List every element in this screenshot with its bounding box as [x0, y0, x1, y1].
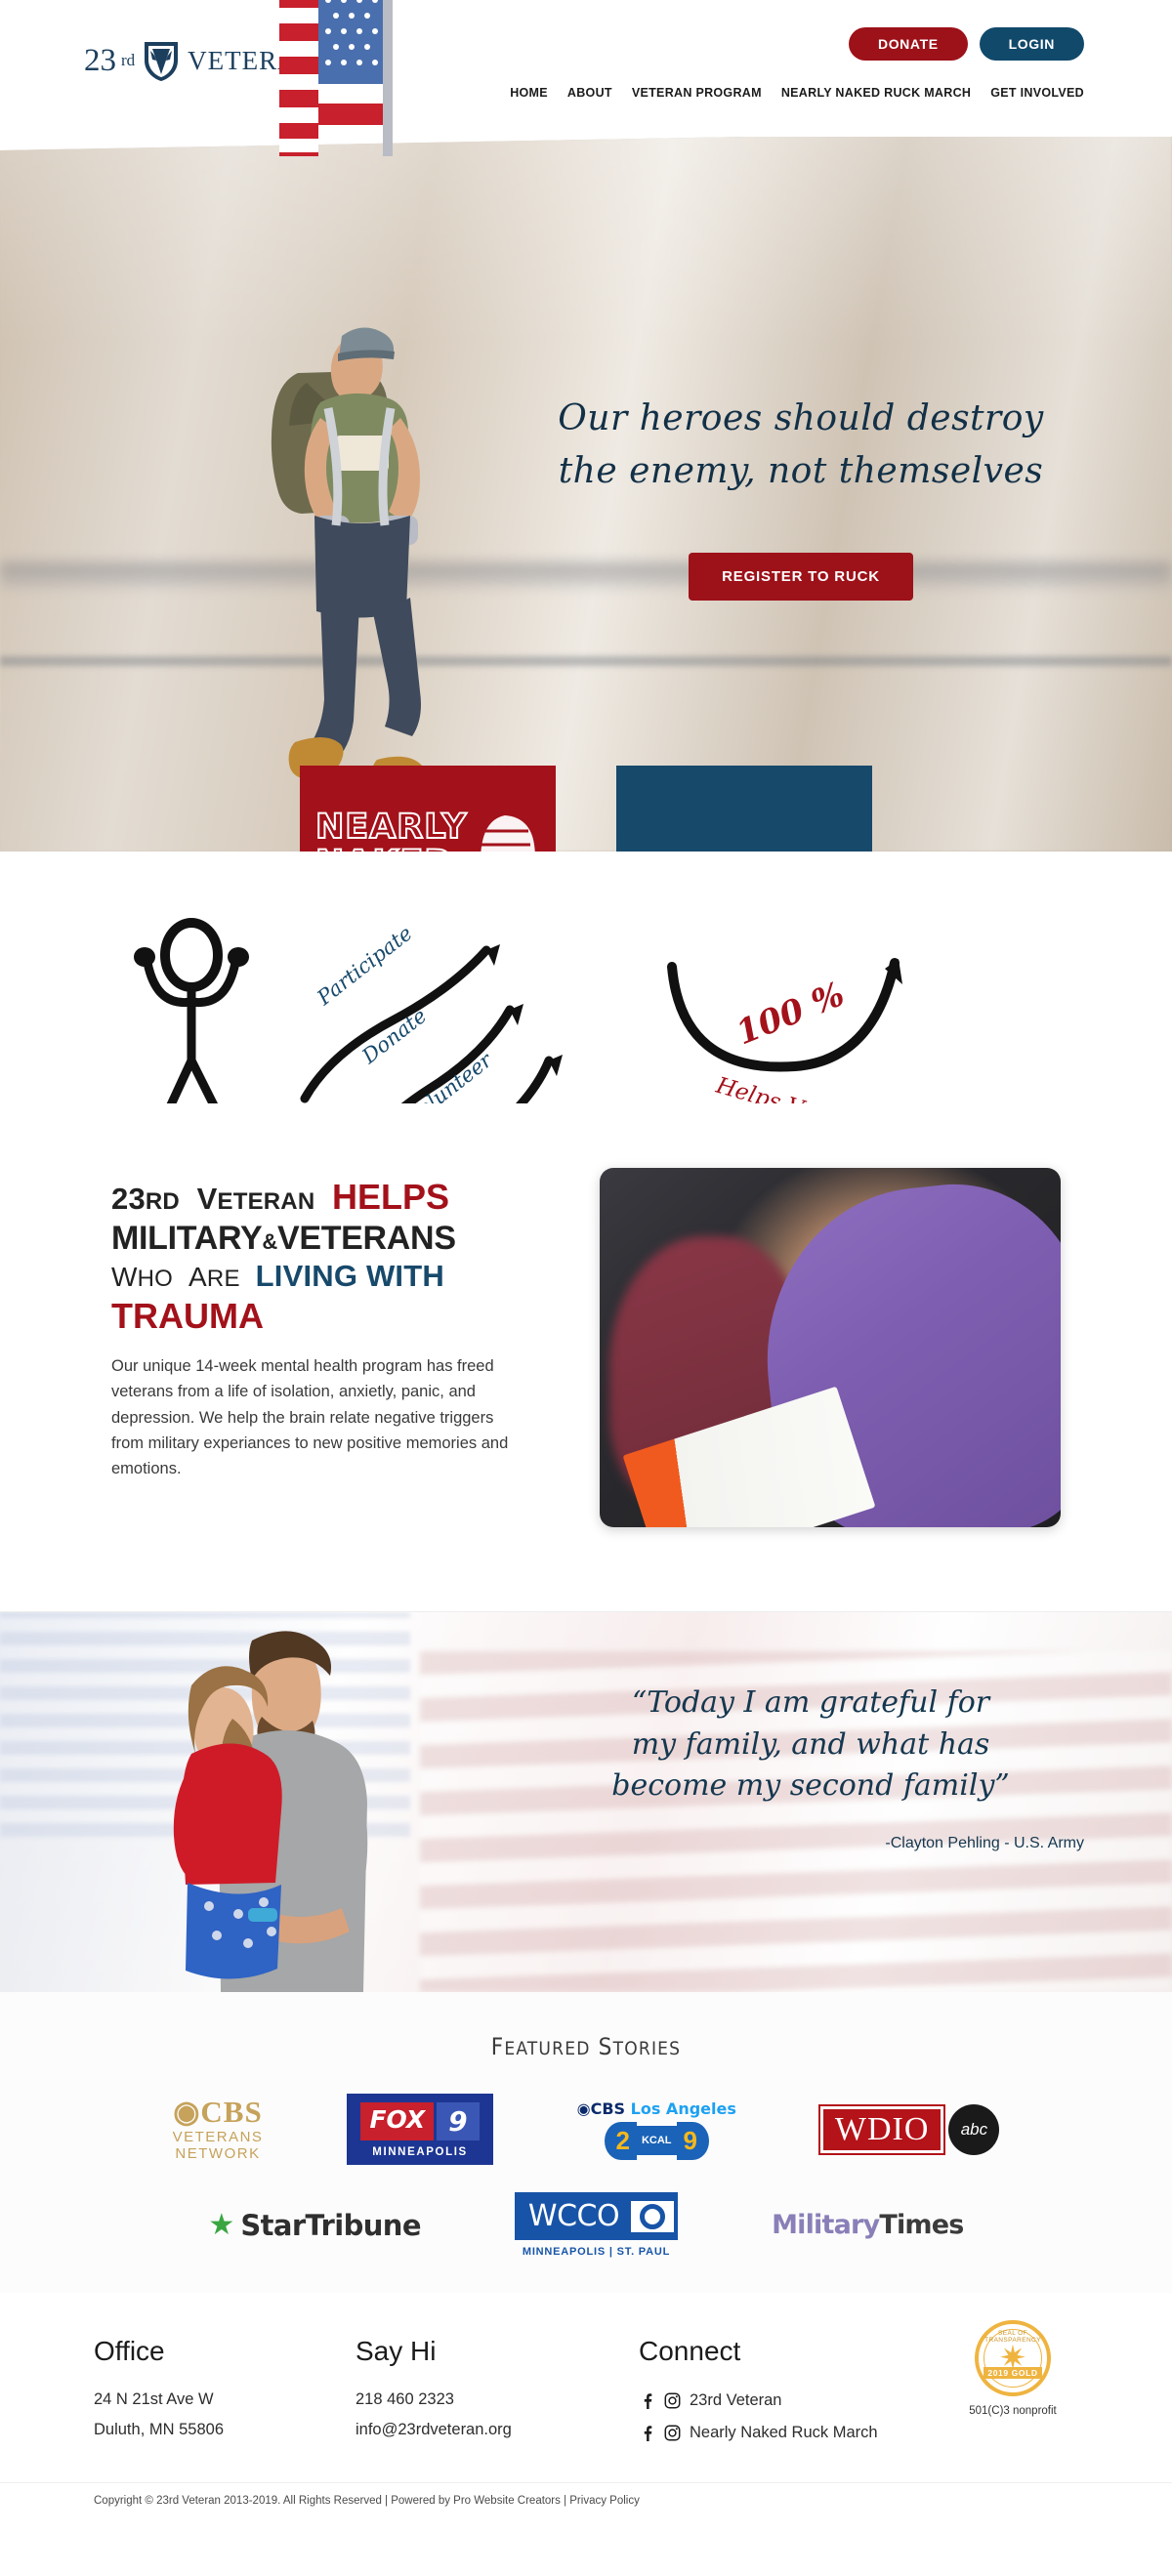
veteran-reading-workbook-photo [600, 1168, 1061, 1527]
heading-ampersand: & [262, 1229, 277, 1254]
hero-tagline-line1: Our heroes should destroy [547, 393, 1055, 445]
instagram-icon[interactable] [664, 2425, 681, 2441]
hero-section: Our heroes should destroy the enemy, not… [0, 129, 1172, 852]
instagram-icon[interactable] [664, 2392, 681, 2409]
program-cards: NEARLY NAKED RUCK MARCH [0, 766, 1172, 852]
fox-city-label: MINNEAPOLIS [360, 2146, 479, 2158]
heading-re: RE [207, 1266, 240, 1292]
social-label-23rd-veteran: 23rd Veteran [690, 2385, 782, 2417]
testimonial-copy: “Today I am grateful for my family, and … [527, 1683, 1094, 1852]
testimonial-attribution: -Clayton Pehling - U.S. Army [527, 1835, 1094, 1852]
featured-logo-row-2: ★ StarTribune WCCO MINNEAPOLIS | ST. PAU… [0, 2192, 1172, 2258]
login-button[interactable]: LOGIN [980, 27, 1084, 61]
star-icon: ★ [208, 2211, 234, 2240]
facebook-icon[interactable] [639, 2425, 655, 2441]
featured-title-f: F [491, 2033, 505, 2060]
nonprofit-status-label: 501(C)3 nonprofit [959, 2405, 1067, 2417]
heading-a: A [188, 1262, 207, 1292]
heading-helps: HELPS [332, 1177, 449, 1217]
american-flag-image [273, 0, 410, 156]
featured-title-tories: TORIES [613, 2038, 682, 2059]
program-text-column: 23RD VETERAN HELPS MILITARY&VETERANS WHO… [111, 1168, 541, 1527]
veteran-holding-daughter-photo [115, 1621, 408, 1992]
heading-eteran: ETERAN [218, 1188, 315, 1215]
heading-v: V [197, 1182, 218, 1216]
media-logo-star-tribune[interactable]: ★ StarTribune [208, 2209, 420, 2242]
social-label-nearly-naked-ruck-march: Nearly Naked Ruck March [690, 2417, 878, 2449]
cbsla-cbs: CBS [591, 2099, 625, 2118]
wcco-callsign: WCCO [528, 2199, 619, 2233]
hero-copy: Our heroes should destroy the enemy, not… [547, 393, 1055, 601]
footer-contact-heading: Say Hi [356, 2336, 639, 2367]
guidestar-seal: SEAL OF TRANSPARENCY ✷ 2019 GOLD 501(C)3… [959, 2320, 1067, 2417]
wcco-market-label: MINNEAPOLIS | ST. PAUL [515, 2246, 678, 2258]
cbs-eye-icon: ◉ [577, 2099, 591, 2118]
heading-ho: HO [138, 1266, 173, 1292]
cbsla-kcal: KCAL [637, 2126, 677, 2155]
stick-figure-cheering-icon [146, 923, 236, 1103]
cbs-label: CBS [200, 2095, 262, 2129]
flow-label-participate: Participate [313, 921, 417, 1010]
boot-print-icon [466, 811, 544, 852]
heading-military: MILITARY [111, 1220, 262, 1257]
military-times-military: Military [772, 2210, 879, 2240]
media-logo-wcco[interactable]: WCCO MINNEAPOLIS | ST. PAUL [515, 2192, 678, 2258]
media-logo-cbs-veterans-network[interactable]: ◉CBS VETERANS NETWORK [173, 2096, 264, 2162]
wdio-callsign: WDIO [820, 2106, 944, 2153]
program-heading-line-4: TRAUMA [111, 1297, 541, 1336]
cbs-network-line: NETWORK [173, 2146, 264, 2163]
footer-office-address-line-2: Duluth, MN 55806 [94, 2415, 356, 2445]
testimonial-quote-line-1: “Today I am grateful for [527, 1683, 1094, 1724]
featured-stories-title: FEATURED STORIES [0, 2033, 1172, 2060]
facebook-icon[interactable] [639, 2392, 655, 2409]
featured-title-eatured: EATURED [504, 2038, 590, 2059]
cbs-eye-icon [631, 2201, 674, 2232]
heading-veterans: VETERANS [277, 1220, 456, 1257]
header-actions: DONATE LOGIN [849, 27, 1084, 61]
footer-office-column: Office 24 N 21st Ave W Duluth, MN 55806 [94, 2336, 356, 2449]
cbs-veterans-line: VETERANS [173, 2130, 264, 2146]
featured-title-s: S [599, 2033, 613, 2060]
cbs-veterans-network-title: ◉CBS [173, 2096, 264, 2130]
logo-ordinal-suffix: rd [121, 51, 135, 70]
logo-number: 23 [84, 43, 116, 79]
star-tribune-wordmark: StarTribune [240, 2209, 421, 2242]
nav-item-veteran-program[interactable]: VETERAN PROGRAM [632, 86, 762, 100]
cbs-los-angeles-title: ◉CBS Los Angeles [577, 2099, 736, 2118]
footer-contact-column: Say Hi 218 460 2323 info@23rdveteran.org [356, 2336, 639, 2449]
testimonial-quote-line-3: become my second family” [527, 1766, 1094, 1807]
program-body-text: Our unique 14-week mental health program… [111, 1353, 522, 1480]
media-logo-fox-9-minneapolis[interactable]: FOX 9 MINNEAPOLIS [347, 2094, 492, 2165]
cbsla-city: Los Angeles [625, 2099, 736, 2118]
page-root: 23rd VETERAN [0, 0, 1172, 2522]
footer-office-heading: Office [94, 2336, 356, 2367]
seal-award-band: 2019 GOLD [984, 2367, 1042, 2379]
cbsla-channel-9: 9 [677, 2122, 709, 2160]
abc-network-icon: abc [948, 2104, 999, 2155]
ruck-runner-photo [205, 227, 527, 852]
program-section: 23RD VETERAN HELPS MILITARY&VETERANS WHO… [0, 1103, 1172, 1611]
social-row-nearly-naked-ruck-march[interactable]: Nearly Naked Ruck March [639, 2417, 1029, 2449]
nav-item-get-involved[interactable]: GET INVOLVED [990, 86, 1084, 100]
testimonial-section: “Today I am grateful for my family, and … [0, 1611, 1172, 1992]
featured-logo-row-1: ◉CBS VETERANS NETWORK FOX 9 MINNEAPOLIS [0, 2094, 1172, 2165]
hero-tagline-line2: the enemy, not themselves [547, 445, 1055, 498]
site-footer: Office 24 N 21st Ave W Duluth, MN 55806 … [0, 2293, 1172, 2522]
flow-impact-percent: 100 % [731, 975, 850, 1053]
fox-channel-number: 9 [437, 2102, 479, 2140]
nav-item-about[interactable]: ABOUT [567, 86, 612, 100]
card-23v-recon[interactable]: 23V RECON [616, 766, 872, 852]
shield-icon [143, 39, 180, 82]
cbs-eye-icon: ◉ [173, 2095, 200, 2129]
main-navigation: HOME ABOUT VETERAN PROGRAM NEARLY NAKED … [510, 86, 1084, 100]
donate-button[interactable]: DONATE [849, 27, 968, 61]
footer-office-address-line-1: 24 N 21st Ave W [94, 2385, 356, 2415]
cbsla-channel-2: 2 [605, 2122, 637, 2160]
fox-label: FOX [360, 2102, 434, 2140]
road-seam-line [0, 656, 1172, 666]
seal-of-transparency-icon: SEAL OF TRANSPARENCY ✷ 2019 GOLD [975, 2320, 1051, 2396]
register-to-ruck-button[interactable]: REGISTER TO RUCK [689, 553, 913, 601]
testimonial-quote-line-2: my family, and what has [527, 1724, 1094, 1766]
media-logo-cbs-los-angeles[interactable]: ◉CBS Los Angeles 2 KCAL 9 [577, 2099, 736, 2160]
footer-email-link[interactable]: info@23rdveteran.org [356, 2421, 512, 2438]
featured-stories-section: FEATURED STORIES ◉CBS VETERANS NETWORK F… [0, 1992, 1172, 2293]
footer-phone-link[interactable]: 218 460 2323 [356, 2390, 454, 2408]
footer-copyright: Copyright © 23rd Veteran 2013-2019. All … [0, 2482, 1172, 2522]
media-logo-military-times[interactable]: MilitaryTimes [772, 2210, 963, 2240]
military-times-times: Times [879, 2210, 963, 2240]
media-logo-wdio-abc[interactable]: WDIO abc [820, 2104, 1000, 2155]
nearly-naked-ruck-march-logo: NEARLY NAKED RUCK MARCH [315, 810, 540, 852]
program-heading-line-1: 23RD VETERAN HELPS [111, 1178, 541, 1217]
heading-23: 23 [111, 1182, 146, 1216]
heading-rd: RD [146, 1188, 180, 1215]
nav-item-nearly-naked-ruck-march[interactable]: NEARLY NAKED RUCK MARCH [781, 86, 971, 100]
program-heading-line-2: MILITARY&VETERANS [111, 1220, 541, 1257]
nav-item-home[interactable]: HOME [510, 86, 548, 100]
heading-w: W [111, 1262, 138, 1292]
site-header: 23rd VETERAN [0, 0, 1172, 137]
flow-diagram-section: Participate Donate Volunteer 100 % Helps… [0, 859, 1172, 1103]
card-nearly-naked-ruck-march[interactable]: NEARLY NAKED RUCK MARCH [300, 766, 556, 852]
flow-impact-label: Helps Veterans [712, 1072, 887, 1103]
program-heading-line-3: WHO ARE LIVING WITH [111, 1260, 541, 1294]
heading-living-with: LIVING WITH [256, 1259, 444, 1293]
